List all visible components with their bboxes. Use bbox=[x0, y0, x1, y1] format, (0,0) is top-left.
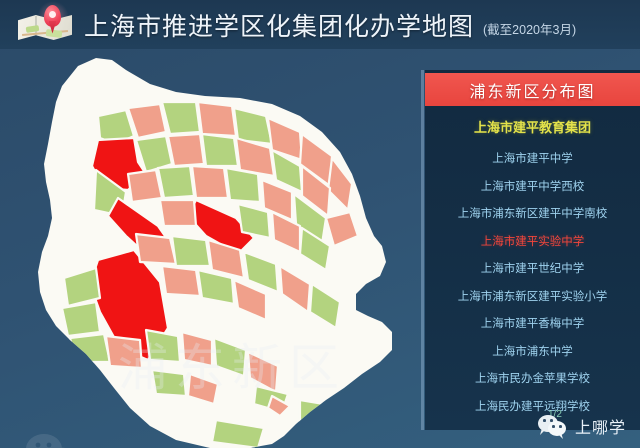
school-list-item[interactable]: 上海市浦东中学 bbox=[425, 339, 640, 367]
panel-banner: 浦东新区分布图 bbox=[425, 73, 640, 106]
school-list-item[interactable]: 上海市建平中学西校 bbox=[425, 174, 640, 202]
wechat-icon: 1/2 bbox=[538, 414, 568, 438]
page-title: 上海市推进学区化集团化办学地图 bbox=[84, 7, 474, 43]
school-list-item[interactable]: 上海市民办金苹果学校 bbox=[425, 366, 640, 394]
school-list-item[interactable]: 上海市建平世纪中学 bbox=[425, 256, 640, 284]
panel-banner-title: 浦东新区分布图 bbox=[469, 78, 595, 102]
school-list-item[interactable]: 上海市浦东新区建平实验小学 bbox=[425, 284, 640, 312]
school-list-item[interactable]: 上海市建平中学 bbox=[425, 146, 640, 174]
screenshot-root: 浦东新区 上海市推进学区化集团化办学地图 (截至2020年3月) bbox=[0, 0, 640, 448]
page-header: 上海市推进学区化集团化办学地图 (截至2020年3月) bbox=[0, 0, 640, 49]
pudong-district-map[interactable] bbox=[0, 40, 430, 448]
map-container[interactable]: 浦东新区 bbox=[0, 40, 430, 448]
page-subtitle: (截至2020年3月) bbox=[483, 19, 576, 38]
school-group-title[interactable]: 上海市建平教育集团 bbox=[425, 113, 640, 146]
school-list-item[interactable]: 上海市建平实验中学 bbox=[425, 229, 640, 257]
panel-left-edge bbox=[421, 70, 424, 430]
brand-mark: 1/2 上哪学 bbox=[538, 414, 626, 438]
map-pin-icon bbox=[16, 5, 78, 45]
brand-name: 上哪学 bbox=[575, 414, 626, 438]
school-list-item[interactable]: 上海市建平香梅中学 bbox=[425, 311, 640, 339]
school-list-item[interactable]: 上海市浦东新区建平中学南校 bbox=[425, 201, 640, 229]
school-list[interactable]: 上海市建平教育集团上海市建平中学上海市建平中学西校上海市浦东新区建平中学南校上海… bbox=[425, 113, 640, 421]
